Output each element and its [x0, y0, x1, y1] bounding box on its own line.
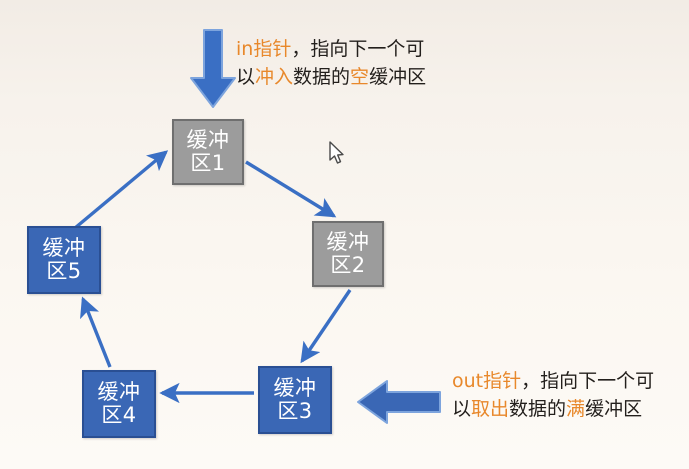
in-annotation-line-1: in指针，指向下一个可 — [236, 36, 426, 64]
link-buffer2-to-buffer3 — [302, 290, 350, 361]
out-annotation-line2-e: 缓冲区 — [585, 398, 642, 420]
in-pointer-annotation: in指针，指向下一个可 以冲入数据的空缓冲区 — [236, 36, 426, 91]
out-annotation-line-1: out指针，指向下一个可 — [452, 368, 654, 396]
buffer-2-label-line1: 缓冲 — [327, 231, 370, 254]
buffer-1-label-line1: 缓冲 — [187, 129, 230, 152]
buffer-3-label-line2: 区3 — [277, 400, 312, 423]
out-annotation-state: 满 — [566, 398, 585, 420]
out-annotation-verb: 取出 — [471, 398, 509, 420]
out-annotation-line2-c: 数据的 — [509, 398, 566, 420]
out-annotation-keyword: out指针 — [452, 370, 521, 392]
out-pointer-arrow-icon — [356, 377, 442, 427]
buffer-box-4[interactable]: 缓冲 区4 — [82, 370, 156, 438]
buffer-box-2[interactable]: 缓冲 区2 — [312, 221, 384, 287]
diagram-canvas: 缓冲 区1 缓冲 区2 缓冲 区3 缓冲 区4 缓冲 区5 in指针，指向下一个… — [0, 0, 689, 469]
buffer-box-1[interactable]: 缓冲 区1 — [172, 119, 244, 185]
buffer-5-label-line2: 区5 — [46, 260, 81, 283]
in-annotation-verb: 冲入 — [255, 66, 293, 88]
out-pointer-annotation: out指针，指向下一个可 以取出数据的满缓冲区 — [452, 368, 654, 423]
buffer-5-label-line1: 缓冲 — [43, 237, 86, 260]
buffer-4-label-line1: 缓冲 — [98, 381, 141, 404]
link-buffer5-to-buffer1 — [75, 152, 166, 228]
in-annotation-line2-e: 缓冲区 — [369, 66, 426, 88]
in-annotation-line1-rest: ，指向下一个可 — [291, 38, 424, 60]
out-annotation-line2-a: 以 — [452, 398, 471, 420]
in-pointer-arrow-icon — [185, 28, 241, 110]
in-annotation-state: 空 — [350, 66, 369, 88]
buffer-4-label-line2: 区4 — [101, 404, 136, 427]
buffer-3-label-line1: 缓冲 — [274, 377, 317, 400]
mouse-cursor-icon — [329, 141, 347, 167]
buffer-box-3[interactable]: 缓冲 区3 — [258, 366, 332, 434]
buffer-box-5[interactable]: 缓冲 区5 — [27, 226, 101, 294]
link-buffer1-to-buffer2 — [246, 162, 334, 216]
in-annotation-line2-a: 以 — [236, 66, 255, 88]
buffer-2-label-line2: 区2 — [330, 254, 365, 277]
link-buffer4-to-buffer5 — [83, 299, 110, 367]
in-annotation-keyword: in指针 — [236, 38, 291, 60]
out-annotation-line-2: 以取出数据的满缓冲区 — [452, 396, 654, 424]
buffer-1-label-line2: 区1 — [190, 152, 225, 175]
in-annotation-line-2: 以冲入数据的空缓冲区 — [236, 64, 426, 92]
out-annotation-line1-rest: ，指向下一个可 — [521, 370, 654, 392]
in-annotation-line2-c: 数据的 — [293, 66, 350, 88]
